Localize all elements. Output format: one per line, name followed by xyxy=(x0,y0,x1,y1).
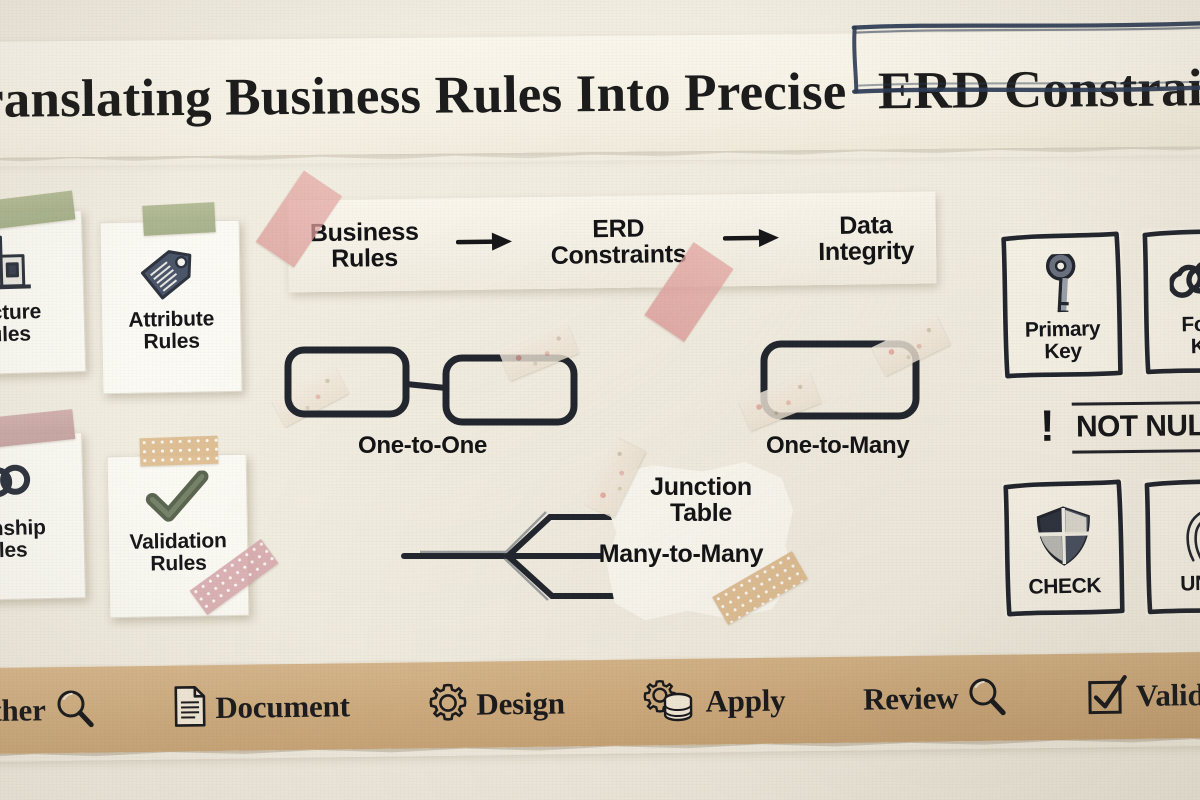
process-step-document[interactable]: Document xyxy=(172,682,350,733)
title-banner: ranslating Business Rules Into Precise E… xyxy=(0,30,1200,158)
junction-table-label: Junction Table xyxy=(616,474,786,527)
rule-note-validation-label: Validation Rules xyxy=(129,530,227,575)
constraint-card-primary-key[interactable]: Primary Key xyxy=(999,231,1124,380)
constraint-card-check-label: CHECK xyxy=(1028,575,1101,598)
rule-note-attribute-label: Attribute Rules xyxy=(128,308,214,353)
process-strip: ather Document xyxy=(0,652,1200,754)
page-title-lead: ranslating Business Rules Into Precise xyxy=(0,63,860,129)
process-step-validate-label: Validat xyxy=(1136,677,1200,714)
page-title-highlight: ERD Constraints xyxy=(866,56,1200,122)
exclamation-icon: ! xyxy=(1040,405,1055,449)
constraint-card-foreign-key-label: Fore Ke xyxy=(1181,314,1200,358)
checkbox-icon xyxy=(1085,672,1130,722)
constraint-card-unique-label: UNIQ xyxy=(1180,572,1200,594)
chain-link-icon xyxy=(1169,251,1200,313)
rule-note-relationship-label: lionship ules xyxy=(0,517,47,562)
gear-icon xyxy=(427,681,470,729)
one-to-one-label: One-to-One xyxy=(358,432,487,460)
process-step-design[interactable]: Design xyxy=(427,680,565,729)
many-to-many-label: Many-to-Many xyxy=(586,540,776,569)
not-null-banner: ! NOT NULL xyxy=(1040,401,1200,457)
process-step-apply-label: Apply xyxy=(705,683,785,720)
constraint-card-check[interactable]: CHECK xyxy=(1002,479,1127,618)
process-step-apply[interactable]: Apply xyxy=(642,675,786,728)
constraint-card-unique[interactable]: UNIQ xyxy=(1143,477,1200,615)
not-null-rule-bottom xyxy=(1072,449,1200,454)
rule-note-relationship[interactable]: lionship ules xyxy=(0,432,86,602)
process-step-review[interactable]: Review xyxy=(863,674,1008,723)
arrow-right-icon xyxy=(723,226,781,254)
washi-tape-tan-validation xyxy=(140,436,219,467)
fingerprint-icon xyxy=(1175,503,1200,569)
process-step-gather-label: ather xyxy=(0,692,46,729)
shield-icon xyxy=(1034,504,1093,572)
flow-node-business-rules: Business Rules xyxy=(310,219,419,273)
gear-database-icon xyxy=(642,676,699,728)
process-step-design-label: Design xyxy=(476,685,565,722)
process-step-validate[interactable]: Validat xyxy=(1085,670,1200,721)
flow-strip: Business Rules ERD Constraints Data Inte… xyxy=(287,191,936,292)
page-title: ranslating Business Rules Into Precise E… xyxy=(0,58,1200,130)
process-step-review-label: Review xyxy=(863,680,959,717)
process-step-gather[interactable]: ather xyxy=(0,686,95,735)
tape-dot-pattern xyxy=(140,436,219,467)
constraint-card-primary-key-label: Primary Key xyxy=(1025,318,1101,362)
spacer xyxy=(350,705,428,706)
not-null-rule-top xyxy=(1072,401,1200,406)
magnifier-icon xyxy=(965,674,1008,722)
document-icon xyxy=(172,684,209,733)
process-step-document-label: Document xyxy=(215,688,350,726)
constraint-card-foreign-key[interactable]: Fore Ke xyxy=(1141,227,1200,375)
spacer xyxy=(95,709,173,710)
spacer xyxy=(565,702,643,703)
chain-link-icon xyxy=(0,451,44,511)
flow-node-erd-constraints: ERD Constraints xyxy=(550,215,686,269)
checkmark-icon xyxy=(142,470,213,525)
spacer xyxy=(1007,697,1085,698)
one-to-many-label: One-to-Many xyxy=(766,432,909,460)
rule-note-structure[interactable]: ucture ules xyxy=(0,210,86,376)
process-strip-inner: ather Document xyxy=(0,652,1200,754)
arrow-right-icon xyxy=(456,230,514,258)
rule-note-structure-label: ucture ules xyxy=(0,301,42,346)
key-icon xyxy=(1028,253,1095,317)
rule-note-attribute[interactable]: Attribute Rules xyxy=(100,220,243,394)
washi-tape-green-attribute xyxy=(142,202,215,236)
tag-icon xyxy=(135,240,206,301)
spacer xyxy=(785,700,863,701)
not-null-label: NOT NULL xyxy=(1076,409,1200,445)
flow-node-data-integrity: Data Integrity xyxy=(818,212,915,265)
magnifier-icon xyxy=(52,686,95,734)
building-icon xyxy=(0,231,46,293)
